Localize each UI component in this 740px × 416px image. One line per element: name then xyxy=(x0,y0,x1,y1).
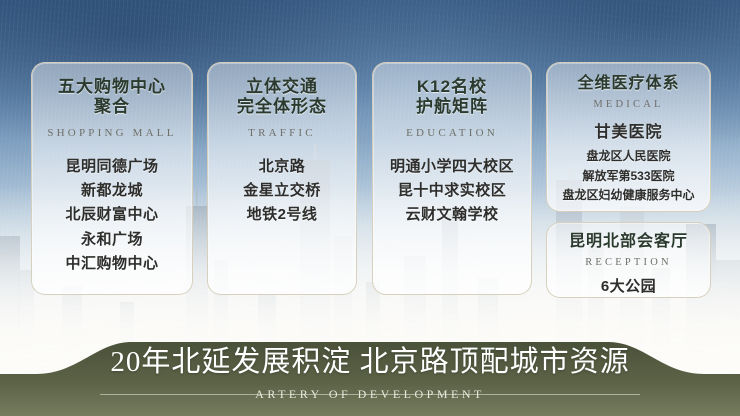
bottom-banner: 20年北延发展积淀 北京路顶配城市资源 ARTERY OF DEVELOPMEN… xyxy=(0,336,740,416)
list-item: 盘龙区人民医院 xyxy=(547,147,710,166)
list-item: 解放军第533医院 xyxy=(547,167,710,186)
info-card-reception[interactable]: 昆明北部会客厅 RECEPTION 6大公园 xyxy=(546,222,711,298)
card-subtitle-shopping: SHOPPING MALL xyxy=(32,127,192,139)
card-items-traffic: 北京路 金星立交桥 地铁2号线 xyxy=(208,155,356,228)
list-item: 地铁2号线 xyxy=(208,203,356,227)
card-title-reception: 昆明北部会客厅 xyxy=(547,232,710,251)
card-title-line1: K12名校 xyxy=(373,77,531,97)
card-title-line1: 全维医疗体系 xyxy=(547,74,710,93)
list-item: 金星立交桥 xyxy=(208,179,356,203)
banner-subline: ARTERY OF DEVELOPMENT xyxy=(245,387,495,402)
info-card-education[interactable]: K12名校 护航矩阵 EDUCATION 明通小学四大校区 昆十中求实校区 云财… xyxy=(372,62,532,295)
list-item: 昆十中求实校区 xyxy=(373,179,531,203)
card-items-education: 明通小学四大校区 昆十中求实校区 云财文翰学校 xyxy=(373,155,531,228)
list-item: 北京路 xyxy=(208,155,356,179)
info-card-shopping[interactable]: 五大购物中心 聚合 SHOPPING MALL 昆明同德广场 新都龙城 北辰财富… xyxy=(31,62,193,295)
card-title-line1: 五大购物中心 xyxy=(32,77,192,97)
card-title-medical: 全维医疗体系 xyxy=(547,74,710,93)
card-title-shopping: 五大购物中心 聚合 xyxy=(32,77,192,118)
card-title-line2: 完全体形态 xyxy=(208,97,356,117)
poster-root: 五大购物中心 聚合 SHOPPING MALL 昆明同德广场 新都龙城 北辰财富… xyxy=(0,0,740,416)
banner-content: 20年北延发展积淀 北京路顶配城市资源 ARTERY OF DEVELOPMEN… xyxy=(0,336,740,416)
card-items-medical: 甘美医院 盘龙区人民医院 解放军第533医院 盘龙区妇幼健康服务中心 xyxy=(547,120,710,205)
list-item: 中汇购物中心 xyxy=(32,252,192,276)
info-card-traffic[interactable]: 立体交通 完全体形态 TRAFFIC 北京路 金星立交桥 地铁2号线 xyxy=(207,62,357,295)
banner-subline-wrap: ARTERY OF DEVELOPMENT xyxy=(100,387,640,402)
card-subtitle-education: EDUCATION xyxy=(373,127,531,139)
info-card-medical[interactable]: 全维医疗体系 MEDICAL 甘美医院 盘龙区人民医院 解放军第533医院 盘龙… xyxy=(546,62,711,212)
card-items-shopping: 昆明同德广场 新都龙城 北辰财富中心 永和广场 中汇购物中心 xyxy=(32,155,192,276)
card-title-education: K12名校 护航矩阵 xyxy=(373,77,531,118)
list-item: 新都龙城 xyxy=(32,179,192,203)
list-item: 6大公园 xyxy=(547,275,710,299)
list-item: 永和广场 xyxy=(32,228,192,252)
card-title-line1: 立体交通 xyxy=(208,77,356,97)
card-subtitle-medical: MEDICAL xyxy=(547,99,710,110)
card-subtitle-traffic: TRAFFIC xyxy=(208,127,356,139)
list-item: 北辰财富中心 xyxy=(32,203,192,227)
list-item: 昆明同德广场 xyxy=(32,155,192,179)
card-subtitle-reception: RECEPTION xyxy=(547,257,710,268)
card-title-line2: 聚合 xyxy=(32,97,192,117)
card-title-line1: 昆明北部会客厅 xyxy=(547,232,710,251)
card-title-line2: 护航矩阵 xyxy=(373,97,531,117)
card-title-traffic: 立体交通 完全体形态 xyxy=(208,77,356,118)
card-items-reception: 6大公园 xyxy=(547,275,710,299)
list-item: 盘龙区妇幼健康服务中心 xyxy=(547,186,710,205)
banner-headline: 20年北延发展积淀 北京路顶配城市资源 xyxy=(110,347,629,379)
list-item: 明通小学四大校区 xyxy=(373,155,531,179)
list-item-lead: 甘美医院 xyxy=(547,120,710,146)
list-item: 云财文翰学校 xyxy=(373,203,531,227)
